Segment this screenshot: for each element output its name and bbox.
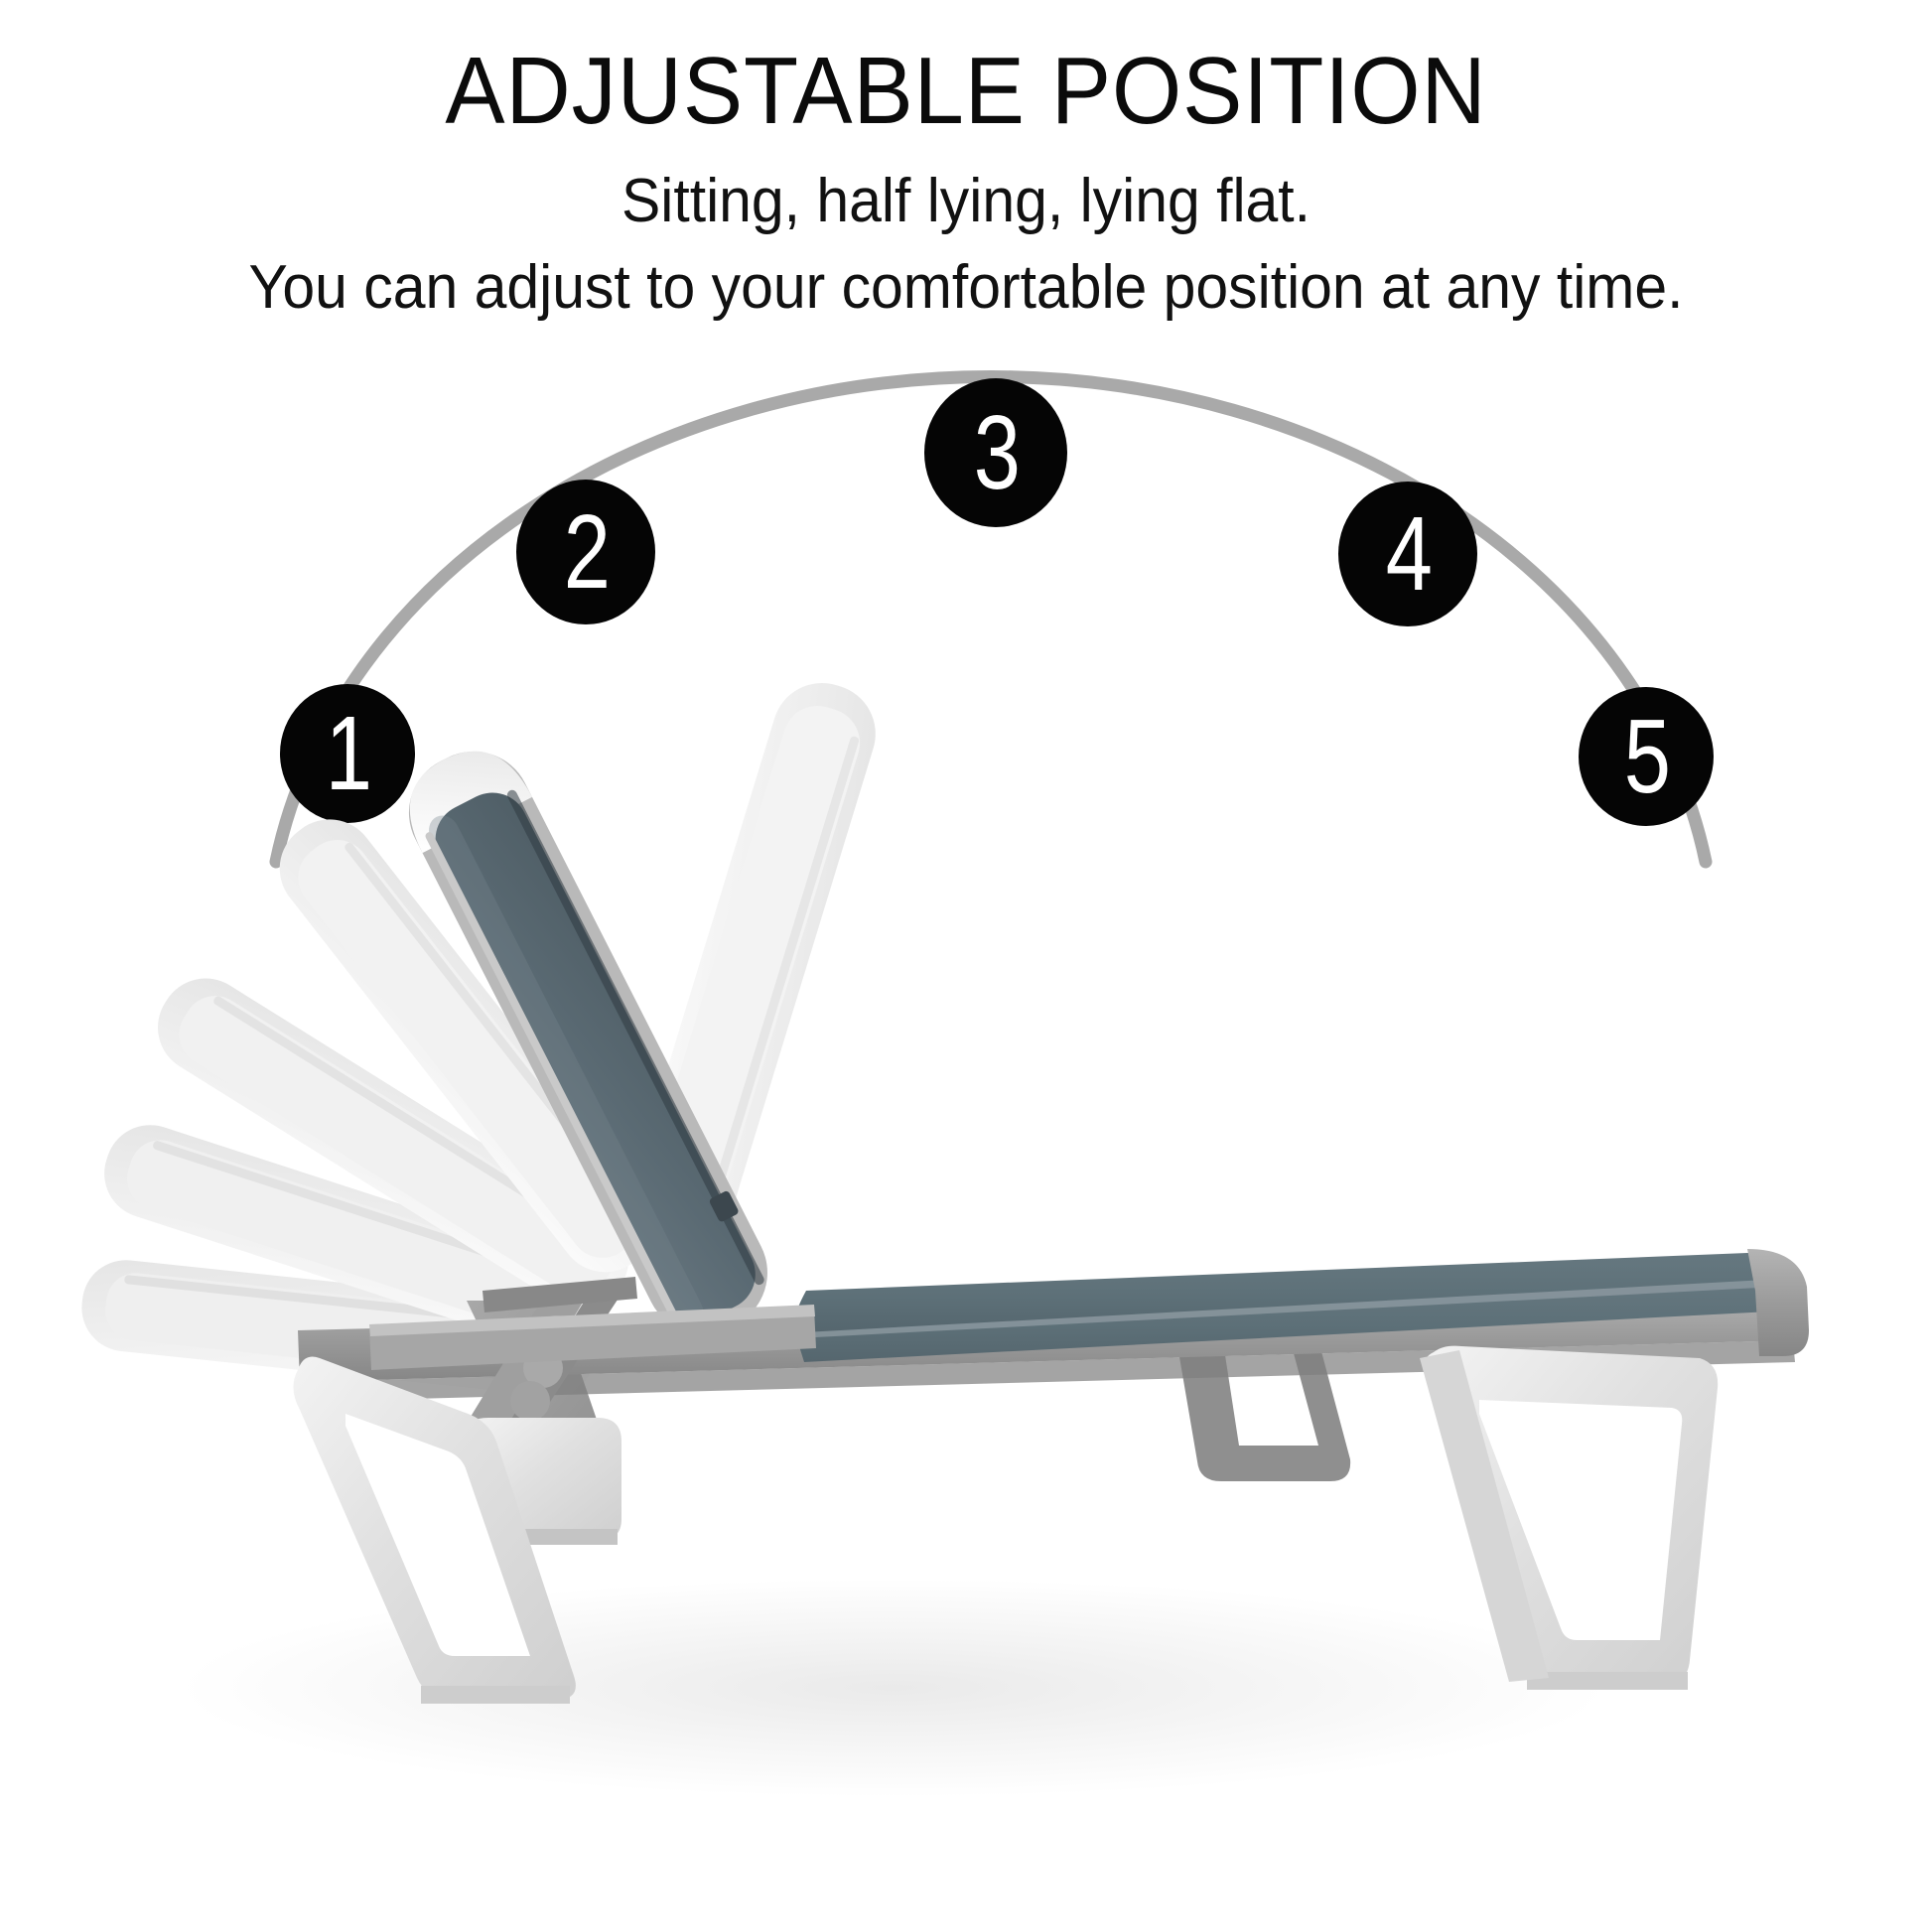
sun-lounger-illustration (0, 0, 1932, 1932)
infographic-canvas: ADJUSTABLE POSITION Sitting, half lying,… (0, 0, 1932, 1932)
